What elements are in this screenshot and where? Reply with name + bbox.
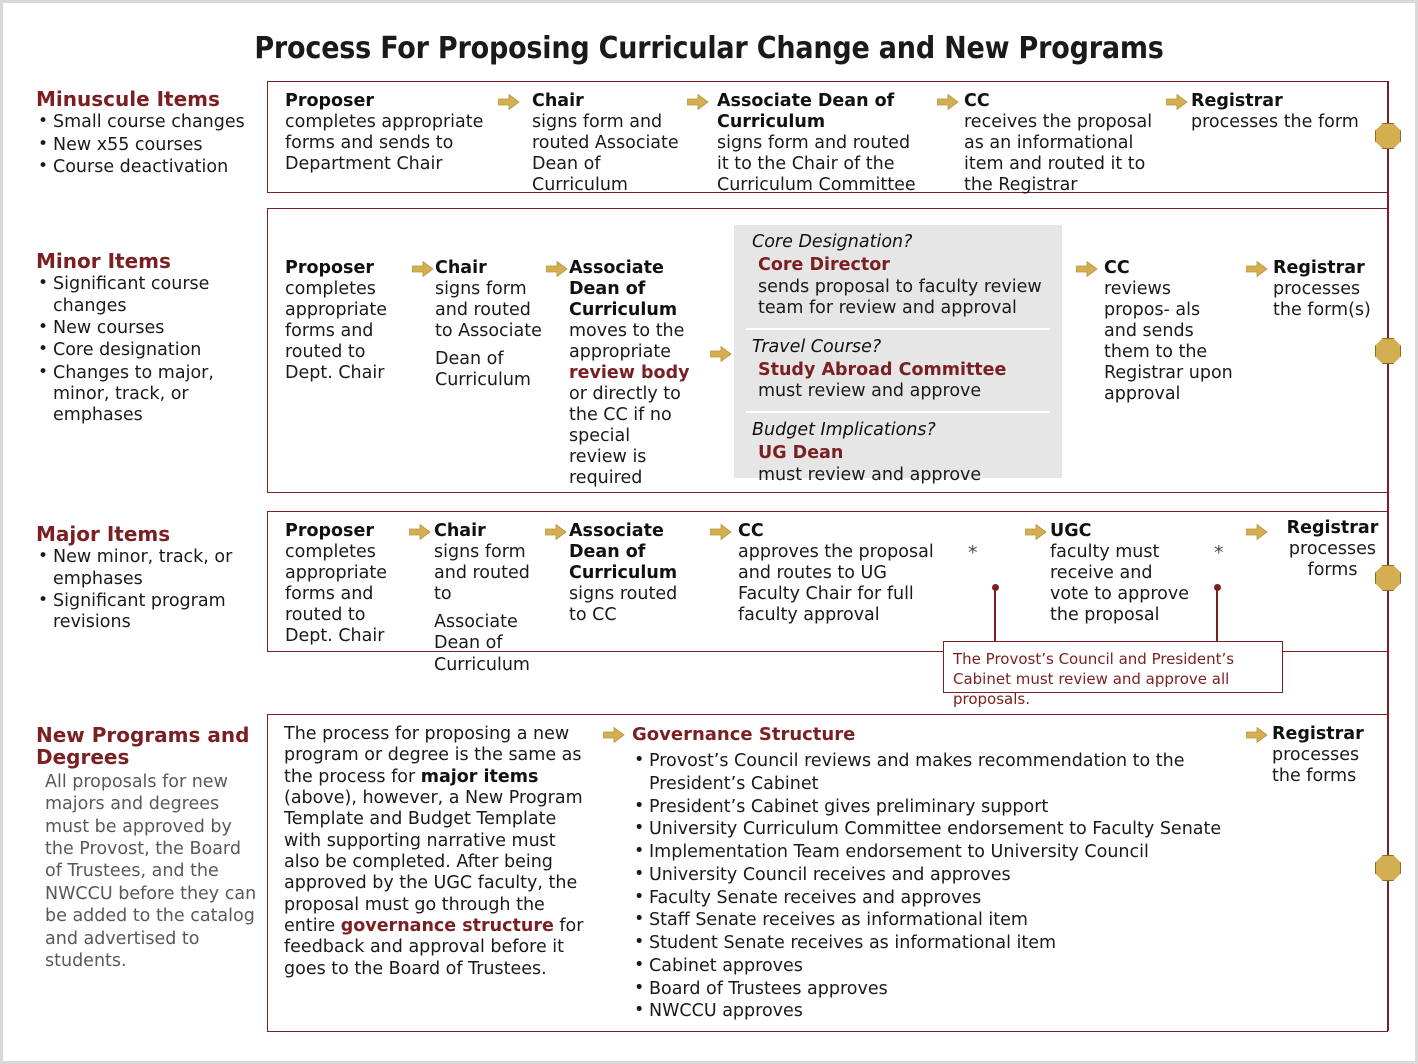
step-actor: Proposer: [285, 258, 401, 279]
step-minor-chair: Chair signs form and routed to Associate…: [435, 258, 550, 392]
step-actor: Registrar: [1273, 258, 1388, 279]
paragraph-accent-governance: governance structure: [341, 916, 554, 936]
leader-line-2: [1216, 587, 1218, 643]
list-item: Staff Senate receives as informational i…: [632, 909, 1272, 932]
governance-list: Provost’s Council reviews and makes reco…: [632, 750, 1272, 1023]
category-minuscule-title: Minuscule Items: [36, 88, 258, 110]
step-actor: Associate Dean of Curriculum: [569, 258, 693, 321]
step-desc-post: or directly to the CC if no special revi…: [569, 384, 681, 488]
step-new-programs-registrar: Registrar processes the forms: [1272, 724, 1387, 787]
step-description: processes the forms: [1272, 745, 1387, 787]
diagram-canvas: Process For Proposing Curricular Change …: [0, 0, 1418, 1064]
arrow-right-icon: [1076, 260, 1098, 278]
arrow-right-icon: [1166, 93, 1188, 111]
step-description: moves to the appropriate review body or …: [569, 321, 693, 489]
leader-dot-2: [1214, 584, 1221, 591]
arrow-right-icon: [710, 523, 732, 541]
decision-description: must review and approve: [752, 465, 1050, 486]
arrow-right-icon: [710, 345, 732, 363]
leader-line-1: [994, 587, 996, 643]
arrow-right-icon: [409, 523, 431, 541]
octagon-marker-minuscule: [1375, 123, 1401, 149]
decision-question: Budget Implications?: [752, 420, 1050, 442]
governance-title: Governance Structure: [632, 724, 1272, 745]
step-description: approves the proposal and routes to UG F…: [738, 542, 943, 626]
list-item: Board of Trustees approves: [632, 978, 1272, 1001]
list-item: New x55 courses: [36, 135, 258, 156]
list-item: Changes to major, minor, track, or empha…: [36, 363, 258, 427]
arrow-right-icon: [1246, 726, 1268, 744]
step-minuscule-cc: CC receives the proposal as an informati…: [964, 91, 1154, 196]
list-item: Course deactivation: [36, 157, 258, 178]
step-description: processes the form: [1191, 112, 1371, 133]
step-description: completes appropriate forms and routed t…: [285, 542, 405, 647]
octagon-marker-minor: [1375, 338, 1401, 364]
step-description: signs form and routed Associate Dean of …: [532, 112, 682, 196]
step-minuscule-registrar: Registrar processes the form: [1191, 91, 1371, 133]
step-major-ugc: UGC faculty must receive and vote to app…: [1050, 521, 1190, 626]
step-description: signs routed to CC: [569, 584, 691, 626]
arrow-right-icon: [1246, 260, 1268, 278]
octagon-marker-major: [1375, 565, 1401, 591]
category-new-programs: New Programs and Degrees All proposals f…: [36, 724, 258, 972]
category-new-programs-title: New Programs and Degrees: [36, 724, 258, 769]
step-major-cc: CC approves the proposal and routes to U…: [738, 521, 943, 626]
arrow-right-icon: [1025, 523, 1047, 541]
list-item: University Council receives and approves: [632, 864, 1272, 887]
step-minor-cc: CC reviews propos- als and sends them to…: [1104, 258, 1237, 405]
page-title: Process For Proposing Curricular Change …: [3, 31, 1415, 66]
governance-structure-block: Governance Structure Provost’s Council r…: [632, 724, 1272, 1023]
step-actor: Chair: [532, 91, 682, 112]
decision-question: Core Designation?: [752, 232, 1050, 254]
step-actor: Chair: [434, 521, 552, 542]
list-item: New minor, track, or emphases: [36, 547, 258, 590]
step-actor: Registrar: [1275, 518, 1390, 539]
step-description: signs form and routed to: [434, 542, 552, 605]
arrow-right-icon: [687, 93, 709, 111]
category-major-list: New minor, track, or emphases Significan…: [36, 547, 258, 633]
list-item: New courses: [36, 318, 258, 339]
category-minuscule-list: Small course changes New x55 courses Cou…: [36, 112, 258, 178]
step-description: receives the proposal as an informationa…: [964, 112, 1154, 196]
step-actor: Associate Dean of Curriculum: [717, 91, 921, 133]
list-item: Provost’s Council reviews and makes reco…: [632, 750, 1272, 796]
step-minor-assoc-dean: Associate Dean of Curriculum moves to th…: [569, 258, 693, 489]
paragraph-part-2: (above), however, a New Program Template…: [284, 788, 583, 936]
category-minor-list: Significant course changes New courses C…: [36, 274, 258, 426]
category-new-programs-note: All proposals for new majors and degrees…: [36, 771, 258, 973]
step-description: signs form and routed to Associate: [435, 279, 550, 342]
step-description: processes forms: [1275, 539, 1390, 581]
arrow-right-icon: [937, 93, 959, 111]
decision-description: sends proposal to faculty review team fo…: [752, 277, 1050, 319]
category-minor-title: Minor Items: [36, 250, 258, 272]
decision-panel: Core Designation? Core Director sends pr…: [734, 225, 1062, 478]
leader-dot-1: [992, 584, 999, 591]
step-actor: CC: [1104, 258, 1237, 279]
new-programs-paragraph: The process for proposing a new program …: [284, 724, 589, 980]
step-minuscule-assoc-dean: Associate Dean of Curriculum signs form …: [717, 91, 921, 196]
step-description: processes the form(s): [1273, 279, 1388, 321]
list-item: Significant program revisions: [36, 591, 258, 634]
step-description: signs form and routed it to the Chair of…: [717, 133, 921, 196]
category-minor: Minor Items Significant course changes N…: [36, 250, 258, 428]
step-description: faculty must receive and vote to approve…: [1050, 542, 1190, 626]
step-major-proposer: Proposer completes appropriate forms and…: [285, 521, 405, 647]
step-major-registrar: Registrar processes forms: [1275, 518, 1390, 581]
step-actor: UGC: [1050, 521, 1190, 542]
step-major-assoc-dean: Associate Dean of Curriculum signs route…: [569, 521, 691, 626]
arrow-right-icon: [546, 260, 568, 278]
step-actor: Proposer: [285, 521, 405, 542]
list-item: Implementation Team endorsement to Unive…: [632, 841, 1272, 864]
step-description-2: Associate Dean of Curriculum: [434, 612, 552, 676]
decision-travel-course: Travel Course? Study Abroad Committee mu…: [734, 330, 1062, 412]
list-item: Small course changes: [36, 112, 258, 133]
arrow-right-icon: [498, 93, 520, 111]
paragraph-bold-major-items: major items: [421, 767, 539, 787]
list-item: Significant course changes: [36, 274, 258, 317]
decision-description: must review and approve: [752, 381, 1050, 402]
list-item: NWCCU approves: [632, 1000, 1272, 1023]
step-actor: Proposer: [285, 91, 500, 112]
step-minuscule-proposer: Proposer completes appropriate forms and…: [285, 91, 500, 175]
list-item: President’s Cabinet gives preliminary su…: [632, 796, 1272, 819]
step-desc-accent: review body: [569, 363, 690, 383]
asterisk-marker-1: *: [968, 544, 978, 563]
step-actor: Registrar: [1272, 724, 1387, 745]
arrow-right-icon: [545, 523, 567, 541]
step-description: completes appropriate forms and sends to…: [285, 112, 500, 175]
step-actor: CC: [738, 521, 943, 542]
arrow-right-icon: [412, 260, 434, 278]
list-item: University Curriculum Committee endorsem…: [632, 818, 1272, 841]
list-item: Faculty Senate receives and approves: [632, 887, 1272, 910]
decision-core-designation: Core Designation? Core Director sends pr…: [734, 225, 1062, 328]
category-major-title: Major Items: [36, 523, 258, 545]
decision-question: Travel Course?: [752, 337, 1050, 359]
decision-actor: Study Abroad Committee: [752, 359, 1050, 382]
step-minuscule-chair: Chair signs form and routed Associate De…: [532, 91, 682, 196]
step-minor-proposer: Proposer completes appropriate forms and…: [285, 258, 401, 384]
step-description: reviews propos- als and sends them to th…: [1104, 279, 1237, 405]
callout-provost-council: The Provost’s Council and President’s Ca…: [943, 641, 1283, 693]
arrow-right-icon: [1246, 523, 1268, 541]
step-actor: Registrar: [1191, 91, 1371, 112]
category-minuscule: Minuscule Items Small course changes New…: [36, 88, 258, 179]
list-item: Student Senate receives as informational…: [632, 932, 1272, 955]
list-item: Core designation: [36, 340, 258, 361]
step-minor-registrar: Registrar processes the form(s): [1273, 258, 1388, 321]
asterisk-marker-2: *: [1214, 544, 1224, 563]
decision-budget-implications: Budget Implications? UG Dean must review…: [734, 413, 1062, 495]
step-desc-pre: moves to the appropriate: [569, 321, 684, 362]
decision-actor: Core Director: [752, 254, 1050, 277]
step-description: completes appropriate forms and routed t…: [285, 279, 401, 384]
step-actor: Associate Dean of Curriculum: [569, 521, 691, 584]
step-actor: Chair: [435, 258, 550, 279]
octagon-marker-new-programs: [1375, 855, 1401, 881]
step-actor: CC: [964, 91, 1154, 112]
list-item: Cabinet approves: [632, 955, 1272, 978]
decision-actor: UG Dean: [752, 442, 1050, 465]
step-major-chair: Chair signs form and routed to Associate…: [434, 521, 552, 676]
step-description-2: Dean of Curriculum: [435, 349, 550, 392]
category-major: Major Items New minor, track, or emphase…: [36, 523, 258, 635]
arrow-right-icon: [603, 726, 625, 744]
